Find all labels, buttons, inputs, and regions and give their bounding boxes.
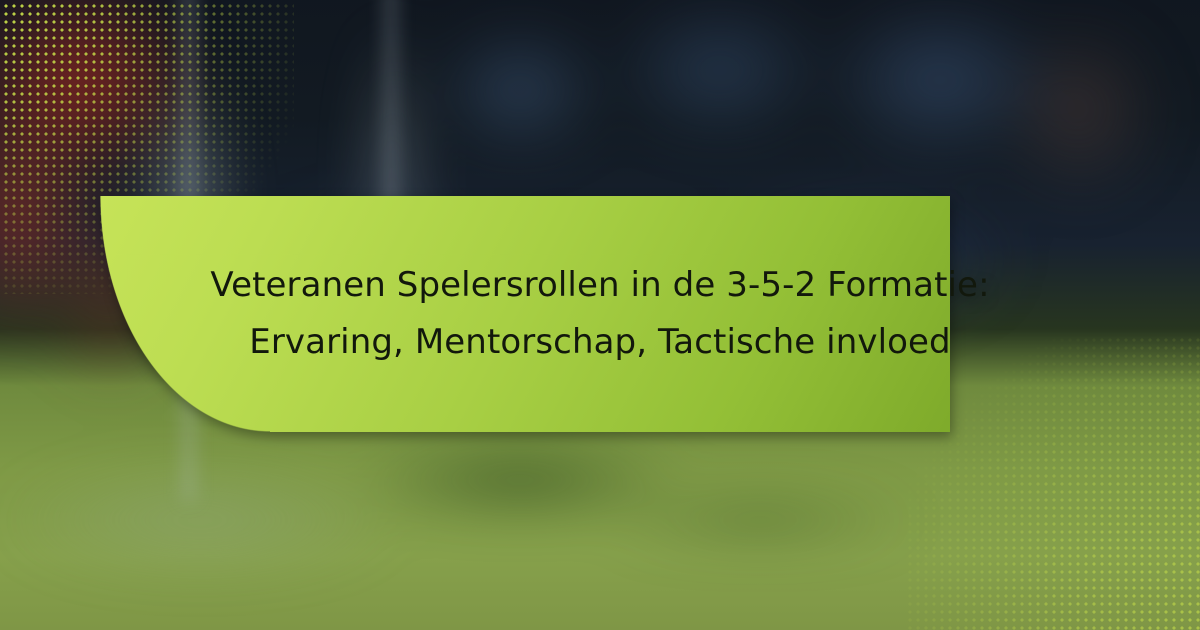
title-line-1: Veteranen Spelersrollen in de 3-5-2 Form… bbox=[210, 262, 989, 309]
page-title: Veteranen Spelersrollen in de 3-5-2 Form… bbox=[100, 196, 1100, 432]
poster-canvas: Veteranen Spelersrollen in de 3-5-2 Form… bbox=[0, 0, 1200, 630]
title-banner: Veteranen Spelersrollen in de 3-5-2 Form… bbox=[100, 196, 1100, 432]
title-line-2: Ervaring, Mentorschap, Tactische invloed bbox=[249, 319, 950, 366]
